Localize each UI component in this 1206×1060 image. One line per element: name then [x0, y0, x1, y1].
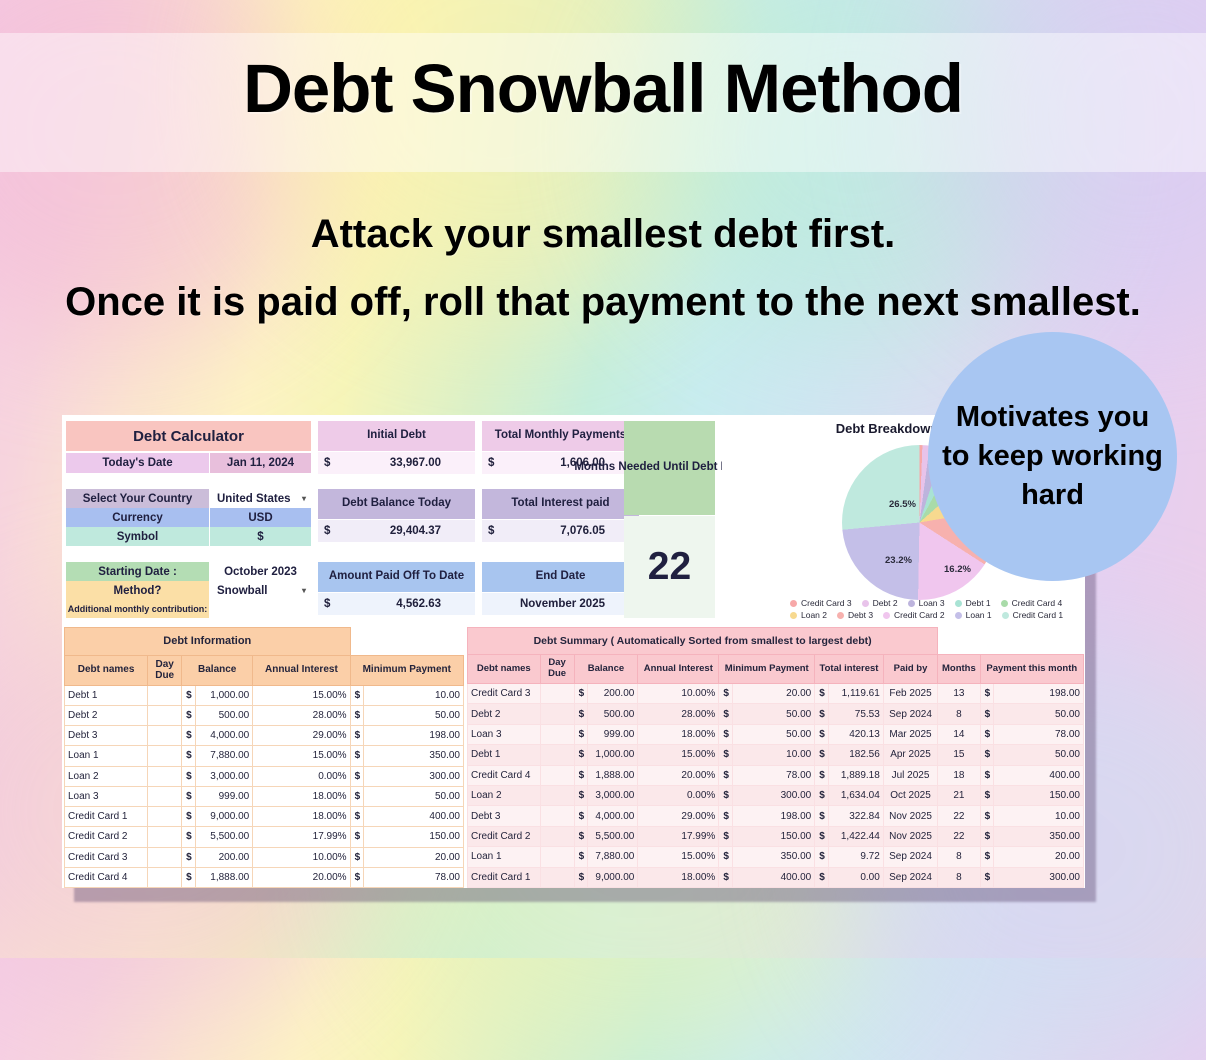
total-interest-cell: 182.56 [828, 745, 883, 765]
symbol-label: Symbol [66, 527, 209, 546]
annual-interest-cell: 15.00% [638, 847, 719, 867]
currency-symbol: $ [350, 827, 364, 847]
debt-name-cell: Credit Card 2 [468, 826, 541, 846]
day-due-cell [148, 766, 182, 786]
legend-item: Loan 2 [790, 610, 827, 620]
months-cell: 13 [938, 683, 980, 703]
currency-symbol: $ [574, 826, 588, 846]
column-header: Day Due [148, 655, 182, 685]
day-due-cell [540, 704, 574, 724]
currency-symbol: $ [182, 766, 196, 786]
currency-symbol: $ [574, 724, 588, 744]
debt-name-cell: Debt 1 [65, 685, 148, 705]
currency-symbol: $ [980, 785, 994, 805]
day-due-cell [540, 847, 574, 867]
currency-symbol: $ [719, 745, 733, 765]
currency-symbol: $ [980, 826, 994, 846]
legend-item: Debt 3 [837, 610, 873, 620]
payment-this-month-cell: 50.00 [994, 704, 1084, 724]
balance-cell: 500.00 [588, 704, 638, 724]
debt-name-cell: Loan 3 [65, 786, 148, 806]
balance-cell: 200.00 [195, 847, 252, 867]
table-row: Debt 3$4,000.0029.00%$198.00 [65, 726, 464, 746]
column-header: Total interest [815, 655, 884, 684]
motivation-badge: Motivates you to keep working hard [928, 332, 1177, 581]
currency-symbol: $ [318, 525, 340, 537]
legend-color-dot [955, 612, 962, 619]
currency-symbol: $ [182, 685, 196, 705]
pie-slice-label: 23.2% [885, 555, 912, 566]
kpi-amount: 4,562.63 [340, 598, 475, 610]
balance-cell: 9,000.00 [588, 867, 638, 887]
legend-item: Debt 2 [862, 598, 898, 608]
table-row: Credit Card 4$1,888.0020.00%$78.00$1,889… [468, 765, 1084, 785]
total-interest-cell: 75.53 [828, 704, 883, 724]
payment-this-month-cell: 150.00 [994, 785, 1084, 805]
legend-color-dot [1002, 612, 1009, 619]
paid-by-cell: Mar 2025 [883, 724, 937, 744]
legend-color-dot [790, 600, 797, 607]
day-due-cell [148, 726, 182, 746]
annual-interest-cell: 0.00% [253, 766, 350, 786]
currency-symbol: $ [980, 704, 994, 724]
balance-cell: 1,888.00 [588, 765, 638, 785]
balance-cell: 1,000.00 [195, 685, 252, 705]
debt-name-cell: Loan 2 [65, 766, 148, 786]
currency-symbol: $ [574, 745, 588, 765]
day-due-cell [540, 785, 574, 805]
currency-symbol: $ [182, 847, 196, 867]
chevron-down-icon: ▾ [302, 494, 306, 503]
currency-symbol: $ [350, 807, 364, 827]
annual-interest-cell: 17.99% [253, 827, 350, 847]
months-cell: 15 [938, 745, 980, 765]
currency-symbol: $ [574, 704, 588, 724]
legend-label: Debt 1 [966, 598, 991, 608]
annual-interest-cell: 15.00% [638, 745, 719, 765]
debt-information-banner: Debt Information [65, 628, 351, 656]
debt-name-cell: Credit Card 3 [468, 683, 541, 703]
column-header: Balance [574, 655, 638, 684]
legend-color-dot [837, 612, 844, 619]
annual-interest-cell: 29.00% [253, 726, 350, 746]
table-row: Credit Card 1$9,000.0018.00%$400.00 [65, 807, 464, 827]
table-row: Debt 1$1,000.0015.00%$10.00 [65, 685, 464, 705]
currency-symbol: $ [482, 457, 504, 469]
debt-name-cell: Debt 3 [65, 726, 148, 746]
legend-item: Credit Card 2 [883, 610, 945, 620]
currency-symbol: $ [980, 847, 994, 867]
method-value: Snowball [217, 585, 267, 597]
minimum-payment-cell: 300.00 [364, 766, 464, 786]
table-row: Loan 3$999.0018.00%$50.00 [65, 786, 464, 806]
debt-name-cell: Loan 1 [468, 847, 541, 867]
table-row: Credit Card 1$9,000.0018.00%$400.00$0.00… [468, 867, 1084, 887]
country-value: United States [217, 493, 291, 505]
table-row: Loan 2$3,000.000.00%$300.00 [65, 766, 464, 786]
balance-cell: 7,880.00 [588, 847, 638, 867]
day-due-cell [148, 786, 182, 806]
todays-date-value: Jan 11, 2024 [210, 453, 311, 473]
balance-cell: 3,000.00 [588, 785, 638, 805]
kpi-amount: November 2025 [504, 598, 639, 610]
total-interest-cell: 1,422.44 [828, 826, 883, 846]
debt-summary-banner: Debt Summary ( Automatically Sorted from… [468, 628, 938, 655]
months-cell: 14 [938, 724, 980, 744]
currency-symbol: $ [980, 724, 994, 744]
kpi-label: Debt Balance Today [318, 489, 475, 519]
minimum-payment-cell: 20.00 [364, 847, 464, 867]
minimum-payment-cell: 198.00 [732, 806, 814, 826]
column-header: Paid by [883, 655, 937, 684]
balance-cell: 9,000.00 [195, 807, 252, 827]
balance-cell: 1,000.00 [588, 745, 638, 765]
currency-symbol: $ [182, 786, 196, 806]
annual-interest-cell: 28.00% [253, 705, 350, 725]
paid-by-cell: Sep 2024 [883, 847, 937, 867]
currency-symbol: $ [574, 847, 588, 867]
table-row: Loan 1$7,880.0015.00%$350.00$9.72Sep 202… [468, 847, 1084, 867]
currency-symbol: $ [719, 867, 733, 887]
currency-symbol: $ [350, 746, 364, 766]
table-row: Credit Card 3$200.0010.00%$20.00 [65, 847, 464, 867]
table-row: Credit Card 2$5,500.0017.99%$150.00$1,42… [468, 826, 1084, 846]
payment-this-month-cell: 50.00 [994, 745, 1084, 765]
months-cell: 8 [938, 704, 980, 724]
minimum-payment-cell: 400.00 [364, 807, 464, 827]
currency-symbol: $ [815, 683, 829, 703]
day-due-cell [148, 807, 182, 827]
legend-color-dot [908, 600, 915, 607]
paid-by-cell: Nov 2025 [883, 806, 937, 826]
method-label: Method? [66, 581, 209, 600]
column-header: Debt names [65, 655, 148, 685]
balance-cell: 5,500.00 [588, 826, 638, 846]
debt-name-cell: Debt 3 [468, 806, 541, 826]
table-row: Loan 3$999.0018.00%$50.00$420.13Mar 2025… [468, 724, 1084, 744]
table-row: Credit Card 4$1,888.0020.00%$78.00 [65, 867, 464, 887]
currency-symbol: $ [350, 705, 364, 725]
day-due-cell [540, 683, 574, 703]
total-interest-cell: 1,889.18 [828, 765, 883, 785]
minimum-payment-cell: 198.00 [364, 726, 464, 746]
currency-symbol: $ [980, 806, 994, 826]
annual-interest-cell: 18.00% [253, 807, 350, 827]
column-header: Day Due [540, 655, 574, 684]
months-cell: 8 [938, 847, 980, 867]
debt-name-cell: Credit Card 1 [65, 807, 148, 827]
currency-symbol: $ [574, 683, 588, 703]
page-subtitle: Attack your smallest debt first.Once it … [52, 200, 1154, 336]
table-row: Loan 2$3,000.000.00%$300.00$1,634.04Oct … [468, 785, 1084, 805]
table-row: Loan 1$7,880.0015.00%$350.00 [65, 746, 464, 766]
debt-name-cell: Debt 1 [468, 745, 541, 765]
currency-symbol: $ [182, 807, 196, 827]
column-header: Annual Interest [638, 655, 719, 684]
currency-symbol: $ [719, 724, 733, 744]
currency-value: USD [210, 508, 311, 527]
column-header: Annual Interest [253, 655, 350, 685]
legend-color-dot [1001, 600, 1008, 607]
annual-interest-cell: 15.00% [253, 746, 350, 766]
months-cell: 22 [938, 826, 980, 846]
annual-interest-cell: 18.00% [638, 724, 719, 744]
annual-interest-cell: 29.00% [638, 806, 719, 826]
country-label: Select Your Country [66, 489, 209, 508]
months-needed-value: 22 [624, 516, 715, 618]
day-due-cell [540, 826, 574, 846]
paid-by-cell: Jul 2025 [883, 765, 937, 785]
currency-symbol: $ [719, 847, 733, 867]
currency-symbol: $ [318, 598, 340, 610]
minimum-payment-cell: 50.00 [732, 724, 814, 744]
currency-symbol: $ [815, 806, 829, 826]
payment-this-month-cell: 198.00 [994, 683, 1084, 703]
currency-symbol: $ [350, 685, 364, 705]
table-row: Credit Card 2$5,500.0017.99%$150.00 [65, 827, 464, 847]
annual-interest-cell: 20.00% [638, 765, 719, 785]
balance-cell: 1,888.00 [195, 867, 252, 887]
kpi-label: Amount Paid Off To Date [318, 562, 475, 592]
months-cell: 8 [938, 867, 980, 887]
subtitle-line: Attack your smallest debt first. [52, 200, 1154, 268]
minimum-payment-cell: 50.00 [732, 704, 814, 724]
day-due-cell [148, 867, 182, 887]
balance-cell: 200.00 [588, 683, 638, 703]
table-row: Debt 2$500.0028.00%$50.00 [65, 705, 464, 725]
payment-this-month-cell: 350.00 [994, 826, 1084, 846]
balance-cell: 4,000.00 [195, 726, 252, 746]
currency-symbol: $ [350, 867, 364, 887]
column-header: Balance [182, 655, 253, 685]
currency-symbol: $ [980, 745, 994, 765]
currency-symbol: $ [980, 765, 994, 785]
currency-symbol: $ [574, 806, 588, 826]
currency-symbol: $ [719, 806, 733, 826]
currency-symbol: $ [182, 705, 196, 725]
annual-interest-cell: 0.00% [638, 785, 719, 805]
kpi-amount: 33,967.00 [340, 457, 475, 469]
table-row: Debt 1$1,000.0015.00%$10.00$182.56Apr 20… [468, 745, 1084, 765]
balance-cell: 3,000.00 [195, 766, 252, 786]
annual-interest-cell: 18.00% [638, 867, 719, 887]
debt-name-cell: Loan 3 [468, 724, 541, 744]
legend-color-dot [862, 600, 869, 607]
months-cell: 22 [938, 806, 980, 826]
kpi-label: Total Interest paid [482, 489, 639, 519]
months-cell: 18 [938, 765, 980, 785]
country-select[interactable]: United States ▾ [210, 489, 311, 508]
starting-date-input[interactable]: October 2023 [210, 562, 311, 581]
column-header: Minimum Payment [719, 655, 815, 684]
minimum-payment-cell: 78.00 [364, 867, 464, 887]
kpi-value: November 2025 [482, 593, 639, 615]
legend-label: Credit Card 2 [894, 610, 945, 620]
total-interest-cell: 322.84 [828, 806, 883, 826]
minimum-payment-cell: 150.00 [364, 827, 464, 847]
currency-symbol: $ [482, 525, 504, 537]
balance-cell: 999.00 [588, 724, 638, 744]
currency-symbol: $ [815, 765, 829, 785]
paid-by-cell: Apr 2025 [883, 745, 937, 765]
annual-interest-cell: 10.00% [253, 847, 350, 867]
column-header: Payment this month [980, 655, 1083, 684]
payment-this-month-cell: 300.00 [994, 867, 1084, 887]
todays-date-label: Today's Date [66, 453, 209, 473]
legend-color-dot [955, 600, 962, 607]
balance-cell: 5,500.00 [195, 827, 252, 847]
kpi-label: End Date [482, 562, 639, 592]
annual-interest-cell: 28.00% [638, 704, 719, 724]
currency-symbol: $ [574, 785, 588, 805]
paid-by-cell: Sep 2024 [883, 867, 937, 887]
kpi-amount: 29,404.37 [340, 525, 475, 537]
total-interest-cell: 420.13 [828, 724, 883, 744]
page-title: Debt Snowball Method [0, 54, 1206, 123]
chart-legend: Credit Card 3Debt 2Loan 3Debt 1Credit Ca… [790, 598, 1085, 620]
legend-label: Loan 2 [801, 610, 827, 620]
kpi-value: $4,562.63 [318, 593, 475, 615]
minimum-payment-cell: 20.00 [732, 683, 814, 703]
currency-symbol: $ [815, 745, 829, 765]
currency-symbol: $ [815, 847, 829, 867]
minimum-payment-cell: 150.00 [732, 826, 814, 846]
debt-name-cell: Credit Card 2 [65, 827, 148, 847]
annual-interest-cell: 10.00% [638, 683, 719, 703]
total-interest-cell: 1,119.61 [828, 683, 883, 703]
legend-label: Credit Card 4 [1012, 598, 1063, 608]
balance-cell: 500.00 [195, 705, 252, 725]
paid-by-cell: Oct 2025 [883, 785, 937, 805]
balance-cell: 7,880.00 [195, 746, 252, 766]
debt-name-cell: Credit Card 1 [468, 867, 541, 887]
day-due-cell [540, 867, 574, 887]
kpi-label: Initial Debt [318, 421, 475, 451]
debt-name-cell: Debt 2 [65, 705, 148, 725]
additional-contribution-label: Additional monthly contribution: [66, 600, 209, 618]
minimum-payment-cell: 50.00 [364, 705, 464, 725]
legend-item: Credit Card 4 [1001, 598, 1063, 608]
paid-by-cell: Feb 2025 [883, 683, 937, 703]
currency-symbol: $ [980, 867, 994, 887]
annual-interest-cell: 15.00% [253, 685, 350, 705]
debt-calculator-title: Debt Calculator [66, 421, 311, 451]
day-due-cell [148, 705, 182, 725]
day-due-cell [148, 685, 182, 705]
total-interest-cell: 9.72 [828, 847, 883, 867]
annual-interest-cell: 20.00% [253, 867, 350, 887]
currency-symbol: $ [350, 726, 364, 746]
currency-symbol: $ [350, 766, 364, 786]
minimum-payment-cell: 10.00 [364, 685, 464, 705]
day-due-cell [148, 746, 182, 766]
total-interest-cell: 1,634.04 [828, 785, 883, 805]
pie-slice-label: 16.2% [944, 564, 971, 575]
payment-this-month-cell: 10.00 [994, 806, 1084, 826]
legend-item: Credit Card 3 [790, 598, 852, 608]
kpi-value: $7,076.05 [482, 520, 639, 542]
spreadsheet-tables-region: Debt Information Debt namesDay DueBalanc… [62, 627, 1085, 888]
legend-color-dot [790, 612, 797, 619]
legend-color-dot [883, 612, 890, 619]
currency-symbol: $ [574, 867, 588, 887]
currency-symbol: $ [719, 785, 733, 805]
currency-symbol: $ [815, 704, 829, 724]
balance-cell: 999.00 [195, 786, 252, 806]
day-due-cell [148, 847, 182, 867]
day-due-cell [540, 745, 574, 765]
additional-contribution-input[interactable] [210, 600, 311, 618]
debt-information-table: Debt Information Debt namesDay DueBalanc… [64, 627, 464, 888]
currency-symbol: $ [350, 786, 364, 806]
annual-interest-cell: 18.00% [253, 786, 350, 806]
legend-label: Credit Card 3 [801, 598, 852, 608]
legend-label: Loan 3 [919, 598, 945, 608]
payment-this-month-cell: 400.00 [994, 765, 1084, 785]
debt-name-cell: Loan 1 [65, 746, 148, 766]
payment-this-month-cell: 20.00 [994, 847, 1084, 867]
currency-symbol: $ [719, 704, 733, 724]
legend-label: Loan 1 [966, 610, 992, 620]
minimum-payment-cell: 78.00 [732, 765, 814, 785]
table-header-row: Debt namesDay DueBalanceAnnual InterestM… [65, 655, 464, 685]
months-cell: 21 [938, 785, 980, 805]
subtitle-line: Once it is paid off, roll that payment t… [52, 268, 1154, 336]
debt-name-cell: Debt 2 [468, 704, 541, 724]
currency-label: Currency [66, 508, 209, 527]
legend-label: Debt 3 [848, 610, 873, 620]
method-select[interactable]: Snowball ▾ [210, 581, 311, 600]
payment-this-month-cell: 78.00 [994, 724, 1084, 744]
debt-name-cell: Credit Card 4 [65, 867, 148, 887]
table-row: Debt 3$4,000.0029.00%$198.00$322.84Nov 2… [468, 806, 1084, 826]
paid-by-cell: Sep 2024 [883, 704, 937, 724]
legend-item: Loan 1 [955, 610, 992, 620]
kpi-value: $33,967.00 [318, 452, 475, 474]
annual-interest-cell: 17.99% [638, 826, 719, 846]
chevron-down-icon: ▾ [302, 586, 306, 595]
currency-symbol: $ [182, 726, 196, 746]
kpi-value: $29,404.37 [318, 520, 475, 542]
minimum-payment-cell: 300.00 [732, 785, 814, 805]
currency-symbol: $ [318, 457, 340, 469]
months-needed-label: Months Needed Until Debt Paid Off [624, 421, 715, 515]
debt-name-cell: Credit Card 4 [468, 765, 541, 785]
day-due-cell [540, 806, 574, 826]
day-due-cell [540, 724, 574, 744]
column-header: Months [938, 655, 980, 684]
legend-label: Credit Card 1 [1013, 610, 1064, 620]
legend-item: Loan 3 [908, 598, 945, 608]
currency-symbol: $ [719, 765, 733, 785]
symbol-value: $ [210, 527, 311, 546]
balance-cell: 4,000.00 [588, 806, 638, 826]
kpi-label: Total Monthly Payments [482, 421, 639, 451]
table-header-row: Debt namesDay DueBalanceAnnual InterestM… [468, 655, 1084, 684]
kpi-amount: 7,076.05 [504, 525, 639, 537]
minimum-payment-cell: 350.00 [364, 746, 464, 766]
currency-symbol: $ [182, 827, 196, 847]
minimum-payment-cell: 350.00 [732, 847, 814, 867]
currency-symbol: $ [719, 826, 733, 846]
pie-slice-label: 26.5% [889, 499, 916, 510]
currency-symbol: $ [719, 683, 733, 703]
legend-item: Credit Card 1 [1002, 610, 1064, 620]
day-due-cell [540, 765, 574, 785]
paid-by-cell: Nov 2025 [883, 826, 937, 846]
currency-symbol: $ [815, 867, 829, 887]
minimum-payment-cell: 400.00 [732, 867, 814, 887]
